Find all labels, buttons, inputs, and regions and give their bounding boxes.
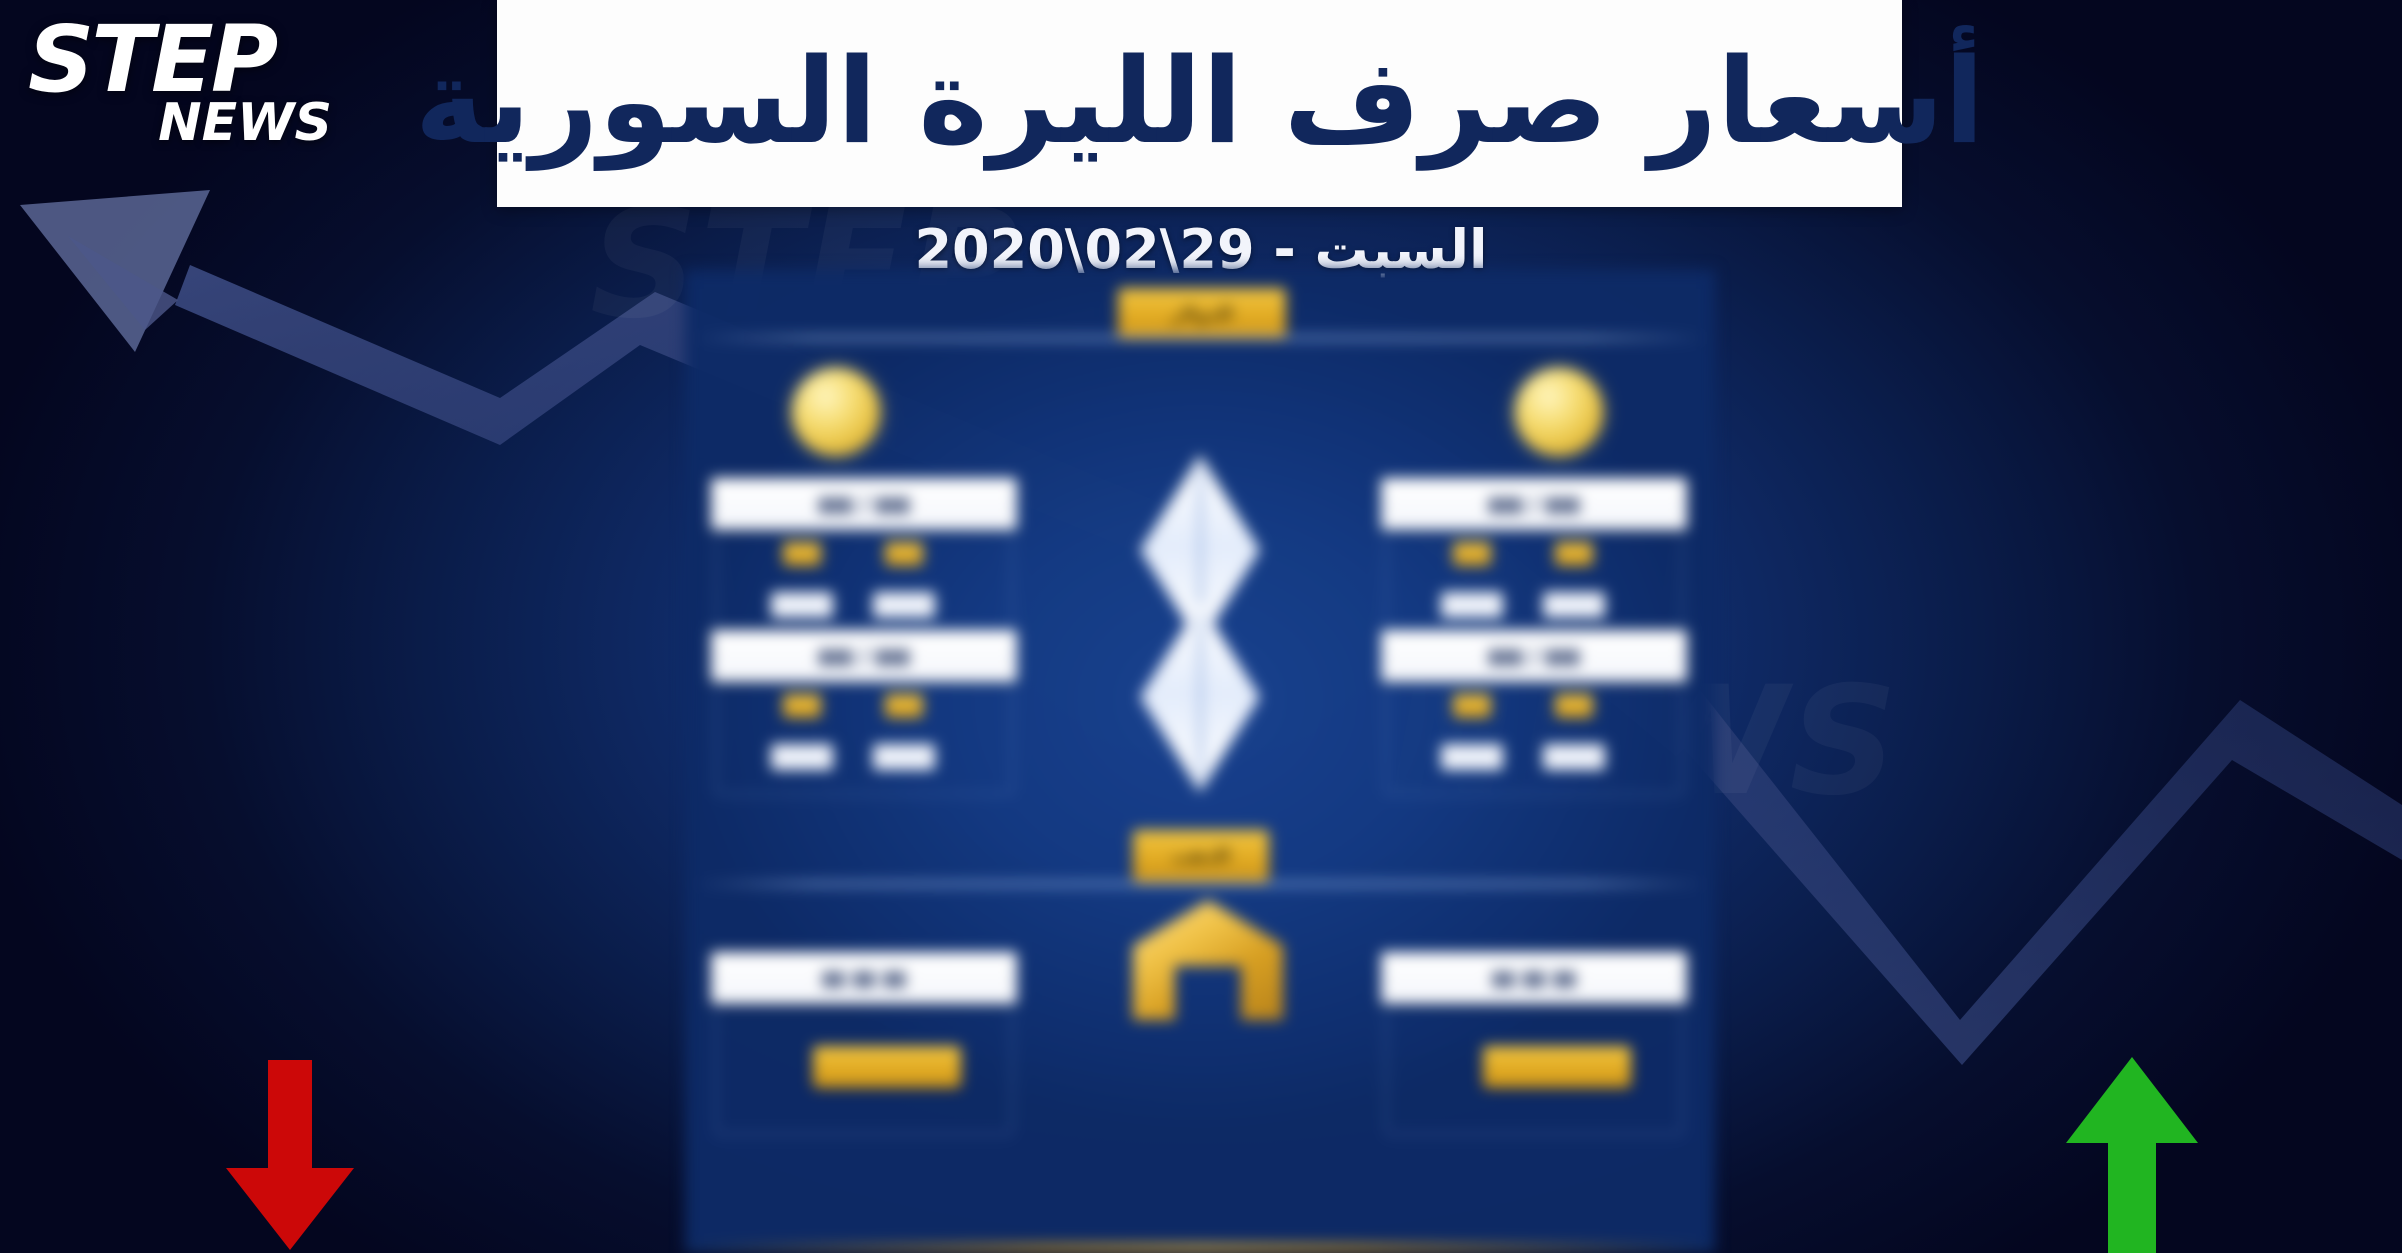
value-buy-2-left: [771, 744, 833, 770]
down-arrow-icon: [220, 1060, 360, 1253]
rate-plate-1-right: ▮▮▮ / ▮▮▮: [1381, 478, 1687, 530]
card-bottom-bar: [685, 1243, 1715, 1253]
tag-sell-1-left: [885, 542, 923, 566]
title-banner: أسعار صرف الليرة السورية: [497, 0, 1902, 207]
divider-top: [693, 336, 1707, 340]
tag-sell-2-left: [885, 694, 923, 718]
value-sell-1-right: [1543, 592, 1605, 618]
coin-icon-right: [1515, 368, 1603, 456]
value-buy-1-right: [1441, 592, 1503, 618]
gold-unit-left: [721, 1048, 803, 1082]
tag-buy-1-left: [783, 542, 821, 566]
gold-plate-right: ▮▮ ▮▮ ▮▮: [1381, 952, 1687, 1004]
exchange-rate-card: الدولار ▮▮▮ / ▮▮▮ ▮▮▮ / ▮▮▮ ▮▮▮ / ▮▮▮ ▮▮…: [685, 270, 1715, 1253]
tag-buy-1-right: [1453, 542, 1491, 566]
logo-step-text: STEP: [28, 18, 338, 103]
up-arrow-icon: [2062, 1053, 2202, 1253]
section-badge-gold: الذهب: [1133, 830, 1269, 882]
tag-buy-2-left: [783, 694, 821, 718]
rate-plate-1-left: ▮▮▮ / ▮▮▮: [711, 478, 1017, 530]
gold-value-right: [1483, 1046, 1631, 1088]
poster-canvas: STEP NEWS STEP NEWS أسعار صرف الليرة الس…: [0, 0, 2402, 1253]
gold-unit-right: [1391, 1048, 1473, 1082]
value-buy-2-right: [1441, 744, 1503, 770]
divider-gold: [693, 882, 1707, 886]
value-sell-2-right: [1543, 744, 1605, 770]
section-badge-currency: الدولار: [1118, 288, 1286, 340]
rate-plate-2-right: ▮▮▮ / ▮▮▮: [1381, 630, 1687, 682]
tag-sell-2-right: [1555, 694, 1593, 718]
value-buy-1-left: [771, 592, 833, 618]
gold-plate-left: ▮▮ ▮▮ ▮▮: [711, 952, 1017, 1004]
gold-value-left: [813, 1046, 961, 1088]
step-news-logo[interactable]: STEP NEWS: [28, 18, 338, 148]
page-title: أسعار صرف الليرة السورية: [415, 28, 1985, 176]
coin-icon-left: [792, 368, 880, 456]
tag-buy-2-right: [1453, 694, 1491, 718]
tag-sell-1-right: [1555, 542, 1593, 566]
value-sell-2-left: [873, 744, 935, 770]
value-sell-1-left: [873, 592, 935, 618]
rate-plate-2-left: ▮▮▮ / ▮▮▮: [711, 630, 1017, 682]
